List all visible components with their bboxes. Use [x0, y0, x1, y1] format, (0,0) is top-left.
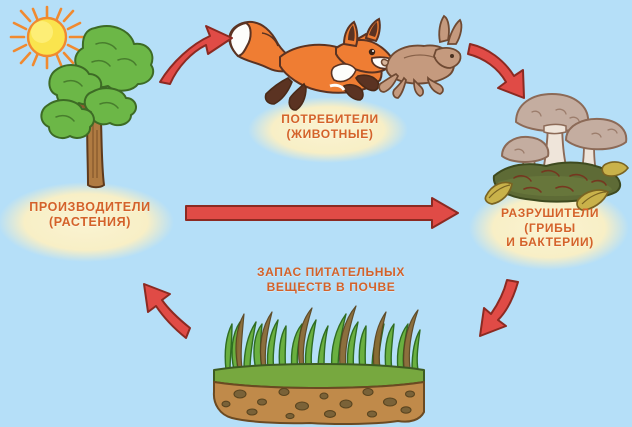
ecosystem-cycle-diagram: ПРОИЗВОДИТЕЛИ (РАСТЕНИЯ) ПОТРЕБИТЕЛИ (ЖИ…: [0, 0, 632, 427]
consumers-ellipse: [248, 97, 408, 163]
producers-ellipse: [0, 182, 174, 262]
diagram-canvas: [0, 0, 632, 427]
